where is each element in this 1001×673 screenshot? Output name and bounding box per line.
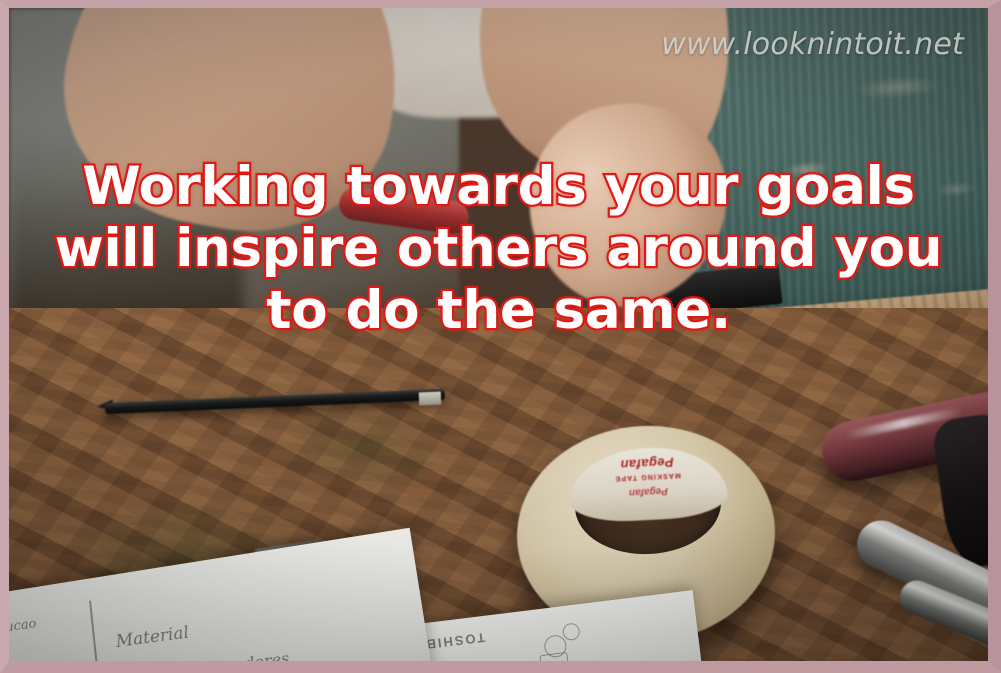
toshiba-printed-rings	[516, 621, 592, 661]
pencil-ferrule	[419, 392, 442, 406]
site-watermark: www.looknintoit.net	[661, 30, 964, 60]
note-line-2: Material	[115, 623, 191, 652]
quote-image-card: 32GB SAMSUNG Pegafan MASKING TAPE Pegafa…	[0, 0, 1001, 673]
tape-brand-label-repeat: Pegafan	[569, 482, 727, 501]
note-line-3: - 2 focos ahorradores	[117, 649, 291, 661]
note-vertical-rule	[89, 601, 106, 661]
note-line-1: Introducao	[9, 616, 37, 640]
photo-scene: 32GB SAMSUNG Pegafan MASKING TAPE Pegafa…	[9, 8, 988, 661]
photo-border-frame: 32GB SAMSUNG Pegafan MASKING TAPE Pegafa…	[0, 0, 1001, 673]
